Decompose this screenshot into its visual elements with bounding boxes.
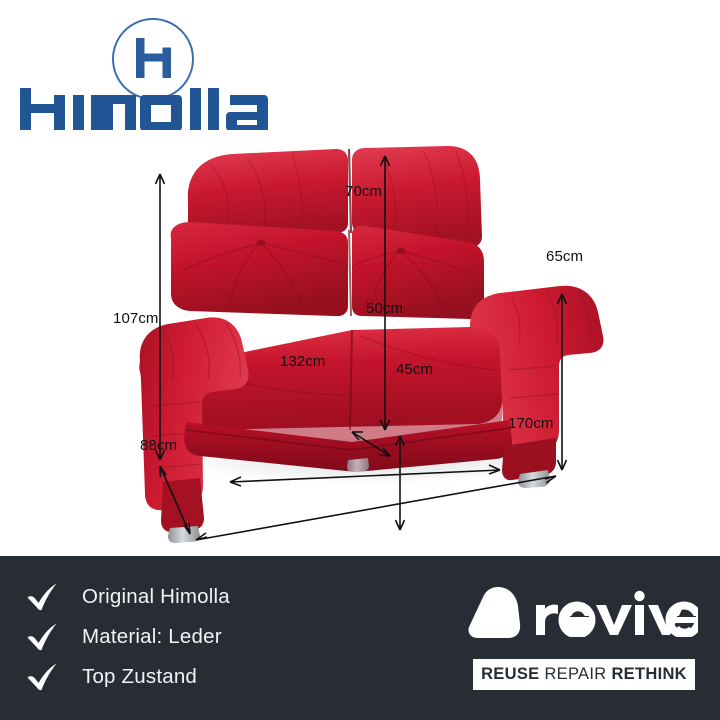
feature-label: Material: Leder	[82, 627, 222, 648]
feature-item: Original Himolla	[26, 580, 230, 614]
badge-word-rethink: RETHINK	[611, 665, 686, 684]
dimension-label-back-height: 70cm	[345, 183, 382, 200]
feature-list: Original Himolla Material: Leder Top Zus…	[26, 580, 230, 694]
check-icon	[26, 662, 60, 692]
badge-word-reuse: REUSE	[481, 665, 539, 684]
dimension-label-width-total: 170cm	[508, 415, 554, 432]
dimension-label-arm-height: 65cm	[546, 248, 583, 265]
revive-stone-icon	[466, 584, 524, 642]
revive-lockup	[466, 580, 702, 646]
badge-word-repair: REPAIR	[544, 665, 606, 684]
feature-item: Top Zustand	[26, 660, 230, 694]
dimension-label-seat-width: 132cm	[280, 353, 326, 370]
check-icon	[26, 622, 60, 652]
feature-label: Top Zustand	[82, 667, 197, 688]
dimension-label-seat-depth: 50cm	[366, 300, 403, 317]
dimension-label-height-total: 107cm	[113, 310, 159, 327]
product-photo: 107cm 88cm 132cm 70cm 50cm 45cm 65cm 170…	[0, 130, 720, 556]
check-icon	[26, 582, 60, 612]
himolla-wordmark	[18, 86, 296, 134]
dimension-label-depth: 88cm	[140, 437, 177, 454]
info-bar: Original Himolla Material: Leder Top Zus…	[0, 556, 720, 720]
feature-item: Material: Leder	[26, 620, 230, 654]
dimension-label-seat-height: 45cm	[396, 361, 433, 378]
himolla-logo: Polster für Menschen	[14, 10, 304, 150]
product-image-page: Polster für Menschen	[0, 0, 720, 720]
revive-wordmark	[534, 589, 698, 637]
feature-label: Original Himolla	[82, 587, 230, 608]
revive-tagline-badge: REUSE REPAIR RETHINK	[473, 659, 695, 690]
revive-logo: REUSE REPAIR RETHINK	[466, 580, 702, 698]
